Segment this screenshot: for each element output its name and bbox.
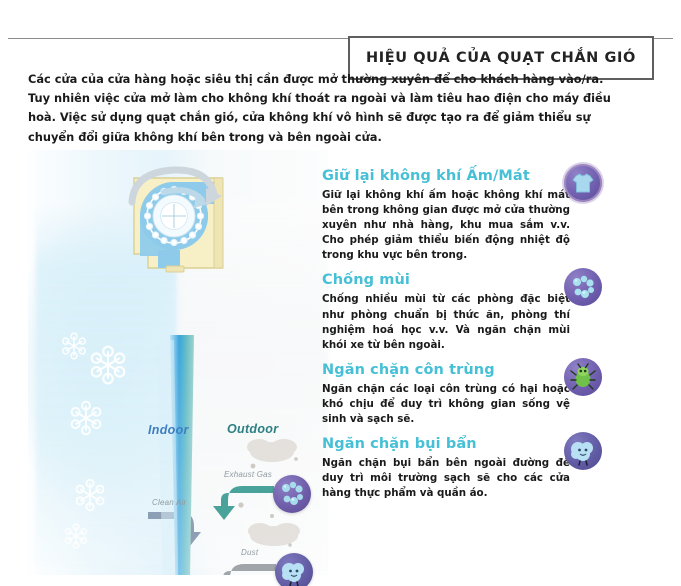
odor-molecules-icon: [564, 268, 602, 306]
tshirt-icon: [564, 164, 602, 202]
insect-icon: [564, 358, 602, 396]
outdoor-label: Outdoor: [227, 422, 278, 436]
flow-label-dust: Dust: [241, 548, 258, 557]
page-header: HIỆU QUẢ CỦA QUẠT CHẮN GIÓ: [0, 18, 681, 60]
benefit-section-odor: Chống mùi Chống nhiều mùi từ các phòng đ…: [322, 272, 612, 352]
benefit-body: Giữ lại không khí ấm hoặc không khí mát …: [322, 188, 570, 263]
benefit-section-warm-cool-air: Giữ lại không khí Ấm/Mát Giữ lại không k…: [322, 168, 612, 263]
benefit-section-dust: Ngăn chặn bụi bẩn Ngăn chặn bụi bẩn bên …: [322, 436, 612, 501]
dust-arrow-icon: [215, 564, 276, 575]
dust-icon: [275, 553, 313, 586]
exhaust-gas-icon: [273, 475, 311, 513]
flow-label-exhaust-gas: Exhaust Gas: [224, 470, 272, 479]
benefits-list: Giữ lại không khí Ấm/Mát Giữ lại không k…: [322, 168, 612, 510]
benefit-section-insects: Ngăn chặn côn trùng Ngăn chặn các loại c…: [322, 362, 612, 427]
poster-page: HIỆU QUẢ CỦA QUẠT CHẮN GIÓ Các cửa của c…: [0, 0, 681, 586]
benefit-body: Ngăn chặn bụi bẩn bên ngoài đường để duy…: [322, 456, 570, 501]
air-curtain-fan-unit: [118, 156, 248, 286]
page-title: HIỆU QUẢ CỦA QUẠT CHẮN GIÓ: [366, 50, 636, 66]
flow-label-clean-air: Clean Air: [152, 498, 186, 507]
air-curtain-beam: [156, 335, 195, 575]
benefit-body: Ngăn chặn các loại côn trùng có hại hoặc…: [322, 382, 570, 427]
dust-cloud-icon: [564, 432, 602, 470]
benefit-body: Chống nhiều mùi từ các phòng đặc biệt nh…: [322, 292, 570, 352]
exhaust-gas-arrow-icon: [213, 486, 274, 520]
air-curtain-diagram: Indoor Outdoor Exhaust Gas Clean Air Dus…: [28, 150, 328, 575]
snowflake-icon: [63, 333, 125, 548]
intro-paragraph: Các cửa của cửa hàng hoặc siêu thị cần đ…: [28, 70, 628, 147]
indoor-label: Indoor: [148, 423, 189, 437]
